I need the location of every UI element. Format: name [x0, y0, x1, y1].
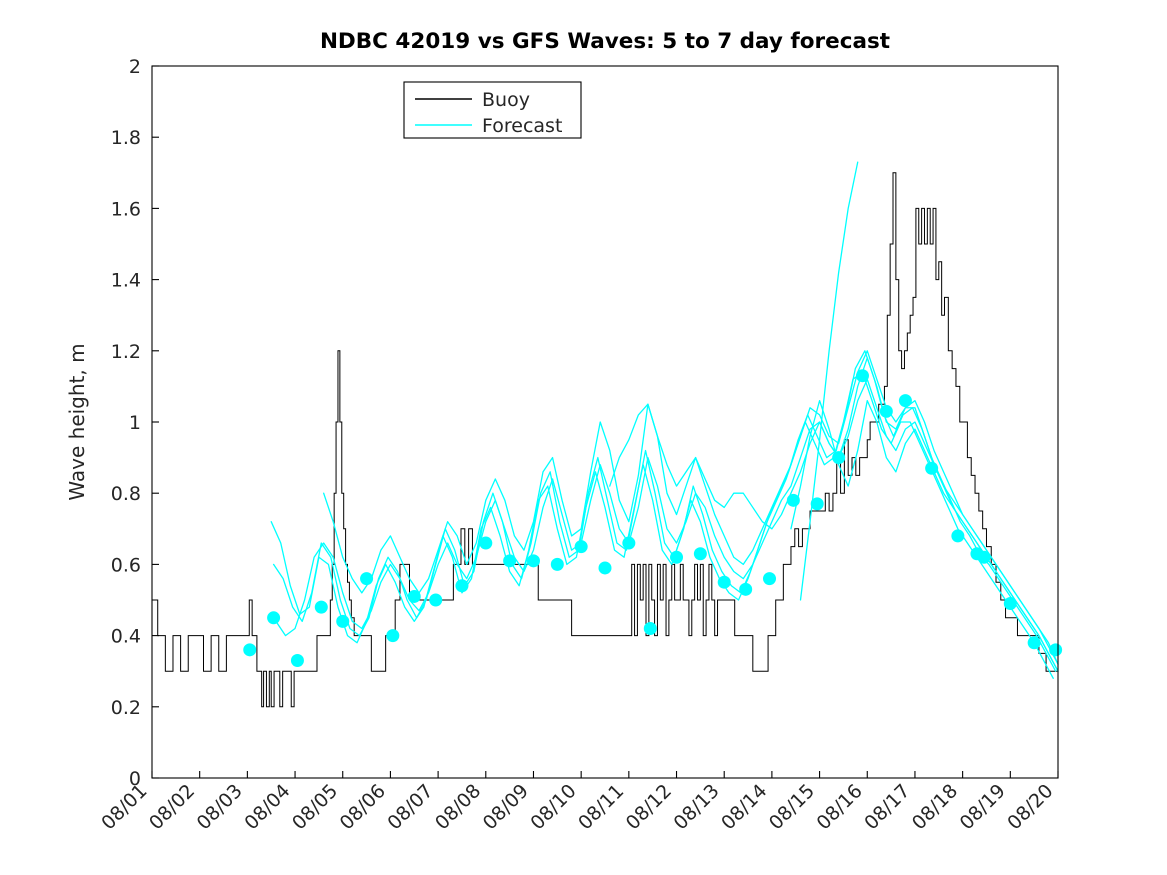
scatter-point	[880, 405, 893, 418]
y-tick-label: 1.2	[111, 341, 141, 363]
y-tick-label: 2	[129, 56, 141, 78]
legend-label-buoy: Buoy	[482, 89, 530, 111]
scatter-point	[291, 654, 304, 667]
scatter-point	[739, 583, 752, 596]
scatter-point	[599, 561, 612, 574]
scatter-point	[386, 629, 399, 642]
scatter-point	[644, 622, 657, 635]
scatter-point	[925, 462, 938, 475]
legend-label-forecast: Forecast	[482, 115, 562, 137]
scatter-point	[360, 572, 373, 585]
scatter-point	[1028, 636, 1041, 649]
scatter-point	[832, 451, 845, 464]
wave-height-chart: NDBC 42019 vs GFS Waves: 5 to 7 day fore…	[0, 0, 1167, 875]
scatter-point	[575, 540, 588, 553]
y-tick-label: 0.8	[111, 483, 141, 505]
scatter-point	[1049, 643, 1062, 656]
scatter-point	[527, 554, 540, 567]
scatter-point	[622, 537, 635, 550]
page-title: NDBC 42019 vs GFS Waves: 5 to 7 day fore…	[320, 29, 890, 54]
scatter-point	[336, 615, 349, 628]
scatter-point	[429, 594, 442, 607]
scatter-point	[479, 537, 492, 550]
scatter-point	[899, 394, 912, 407]
scatter-point	[455, 579, 468, 592]
chart-figure: NDBC 42019 vs GFS Waves: 5 to 7 day fore…	[0, 0, 1167, 875]
y-tick-label: 0.2	[111, 697, 141, 719]
scatter-point	[694, 547, 707, 560]
y-tick-label: 1	[129, 412, 141, 434]
y-tick-label: 0.6	[111, 554, 141, 576]
scatter-point	[718, 576, 731, 589]
scatter-point	[787, 494, 800, 507]
scatter-point	[856, 369, 869, 382]
scatter-point	[763, 572, 776, 585]
scatter-point	[315, 601, 328, 614]
scatter-point	[243, 643, 256, 656]
scatter-point	[503, 554, 516, 567]
scatter-point	[978, 551, 991, 564]
y-axis-label: Wave height, m	[65, 343, 89, 500]
chart-legend[interactable]: Buoy Forecast	[404, 82, 581, 138]
scatter-point	[551, 558, 564, 571]
scatter-point	[1004, 597, 1017, 610]
y-tick-label: 1.8	[111, 127, 141, 149]
y-tick-label: 1.6	[111, 198, 141, 220]
scatter-point	[670, 551, 683, 564]
y-tick-label: 1.4	[111, 270, 141, 292]
scatter-point	[951, 529, 964, 542]
scatter-point	[811, 497, 824, 510]
scatter-point	[408, 590, 421, 603]
y-tick-label: 0.4	[111, 626, 141, 648]
scatter-point	[267, 611, 280, 624]
